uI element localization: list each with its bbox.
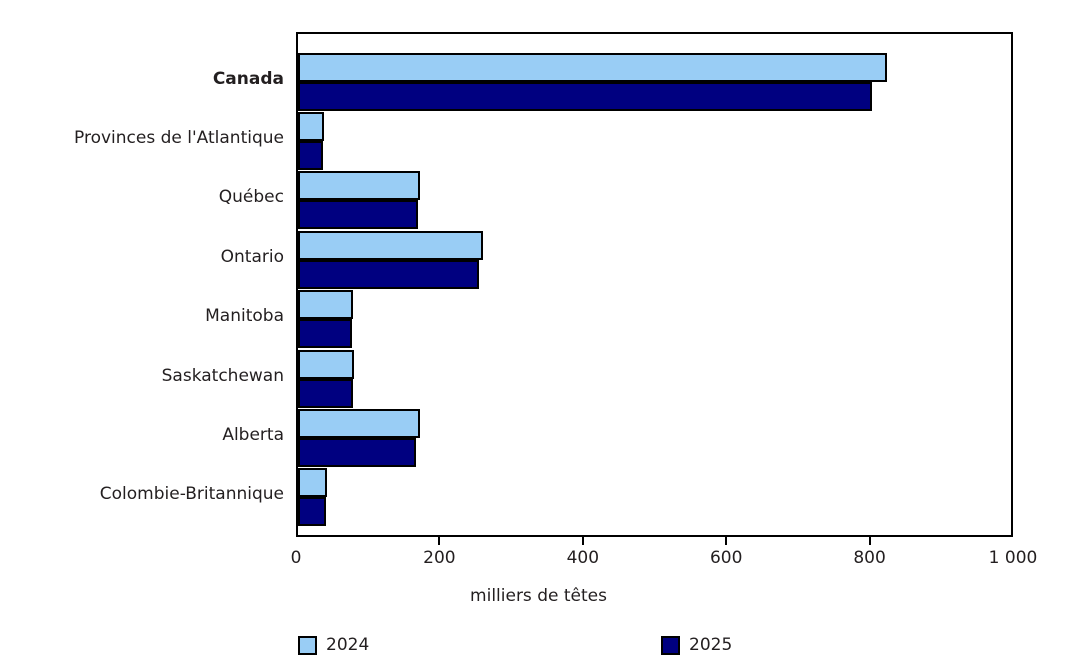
x-tick-label-0: 0 — [291, 549, 302, 568]
bar-2024-qu-bec — [298, 171, 420, 200]
bar-2025-colombie-britannique — [298, 497, 326, 526]
bar-2024-saskatchewan — [298, 350, 354, 379]
legend-label-2025: 2025 — [689, 637, 732, 654]
bar-group — [298, 468, 1011, 526]
bar-group — [298, 409, 1011, 467]
bar-chart: CanadaProvinces de l'AtlantiqueQuébecOnt… — [0, 0, 1065, 669]
category-label-ontario: Ontario — [0, 249, 284, 266]
bar-2024-canada — [298, 53, 887, 82]
bar-2025-alberta — [298, 438, 416, 467]
category-label-provinces-de-l-atlantique: Provinces de l'Atlantique — [0, 130, 284, 147]
x-tick-label-800: 800 — [853, 549, 885, 568]
bar-2025-saskatchewan — [298, 379, 353, 408]
bar-group — [298, 112, 1011, 170]
legend-label-2024: 2024 — [326, 637, 369, 654]
bar-2024-ontario — [298, 231, 483, 260]
x-tick-label-200: 200 — [423, 549, 455, 568]
x-axis-title-text: milliers de têtes — [470, 586, 607, 606]
x-tick-mark-400 — [582, 537, 584, 545]
x-axis-title: milliers de têtes — [0, 586, 1065, 606]
bar-2024-manitoba — [298, 290, 353, 319]
bar-group — [298, 231, 1011, 289]
chart-legend: 20242025 — [0, 634, 1065, 662]
legend-swatch-2024 — [298, 636, 317, 655]
bar-2025-qu-bec — [298, 200, 418, 229]
bar-group — [298, 53, 1011, 111]
bar-2025-canada — [298, 82, 872, 111]
x-tick-mark-200 — [438, 537, 440, 545]
x-tick-mark-600 — [725, 537, 727, 545]
x-tick-mark-800 — [869, 537, 871, 545]
bar-2024-alberta — [298, 409, 420, 438]
category-label-qu-bec: Québec — [0, 189, 284, 206]
bar-2025-provinces-de-l-atlantique — [298, 141, 323, 170]
legend-item-2024[interactable]: 2024 — [298, 636, 369, 655]
legend-swatch-2025 — [661, 636, 680, 655]
bar-2024-provinces-de-l-atlantique — [298, 112, 324, 141]
bar-2025-manitoba — [298, 319, 352, 348]
plot-area — [296, 32, 1013, 537]
bar-group — [298, 171, 1011, 229]
category-label-manitoba: Manitoba — [0, 308, 284, 325]
category-label-saskatchewan: Saskatchewan — [0, 368, 284, 385]
bar-2025-ontario — [298, 260, 479, 289]
bar-group — [298, 350, 1011, 408]
category-label-colombie-britannique: Colombie-Britannique — [0, 486, 284, 503]
category-label-canada: Canada — [0, 71, 284, 88]
bar-group — [298, 290, 1011, 348]
legend-item-2025[interactable]: 2025 — [661, 636, 732, 655]
x-tick-label-400: 400 — [567, 549, 599, 568]
category-label-alberta: Alberta — [0, 427, 284, 444]
x-tick-label-600: 600 — [710, 549, 742, 568]
bar-2024-colombie-britannique — [298, 468, 327, 497]
x-tick-label-1000: 1 000 — [989, 549, 1038, 568]
